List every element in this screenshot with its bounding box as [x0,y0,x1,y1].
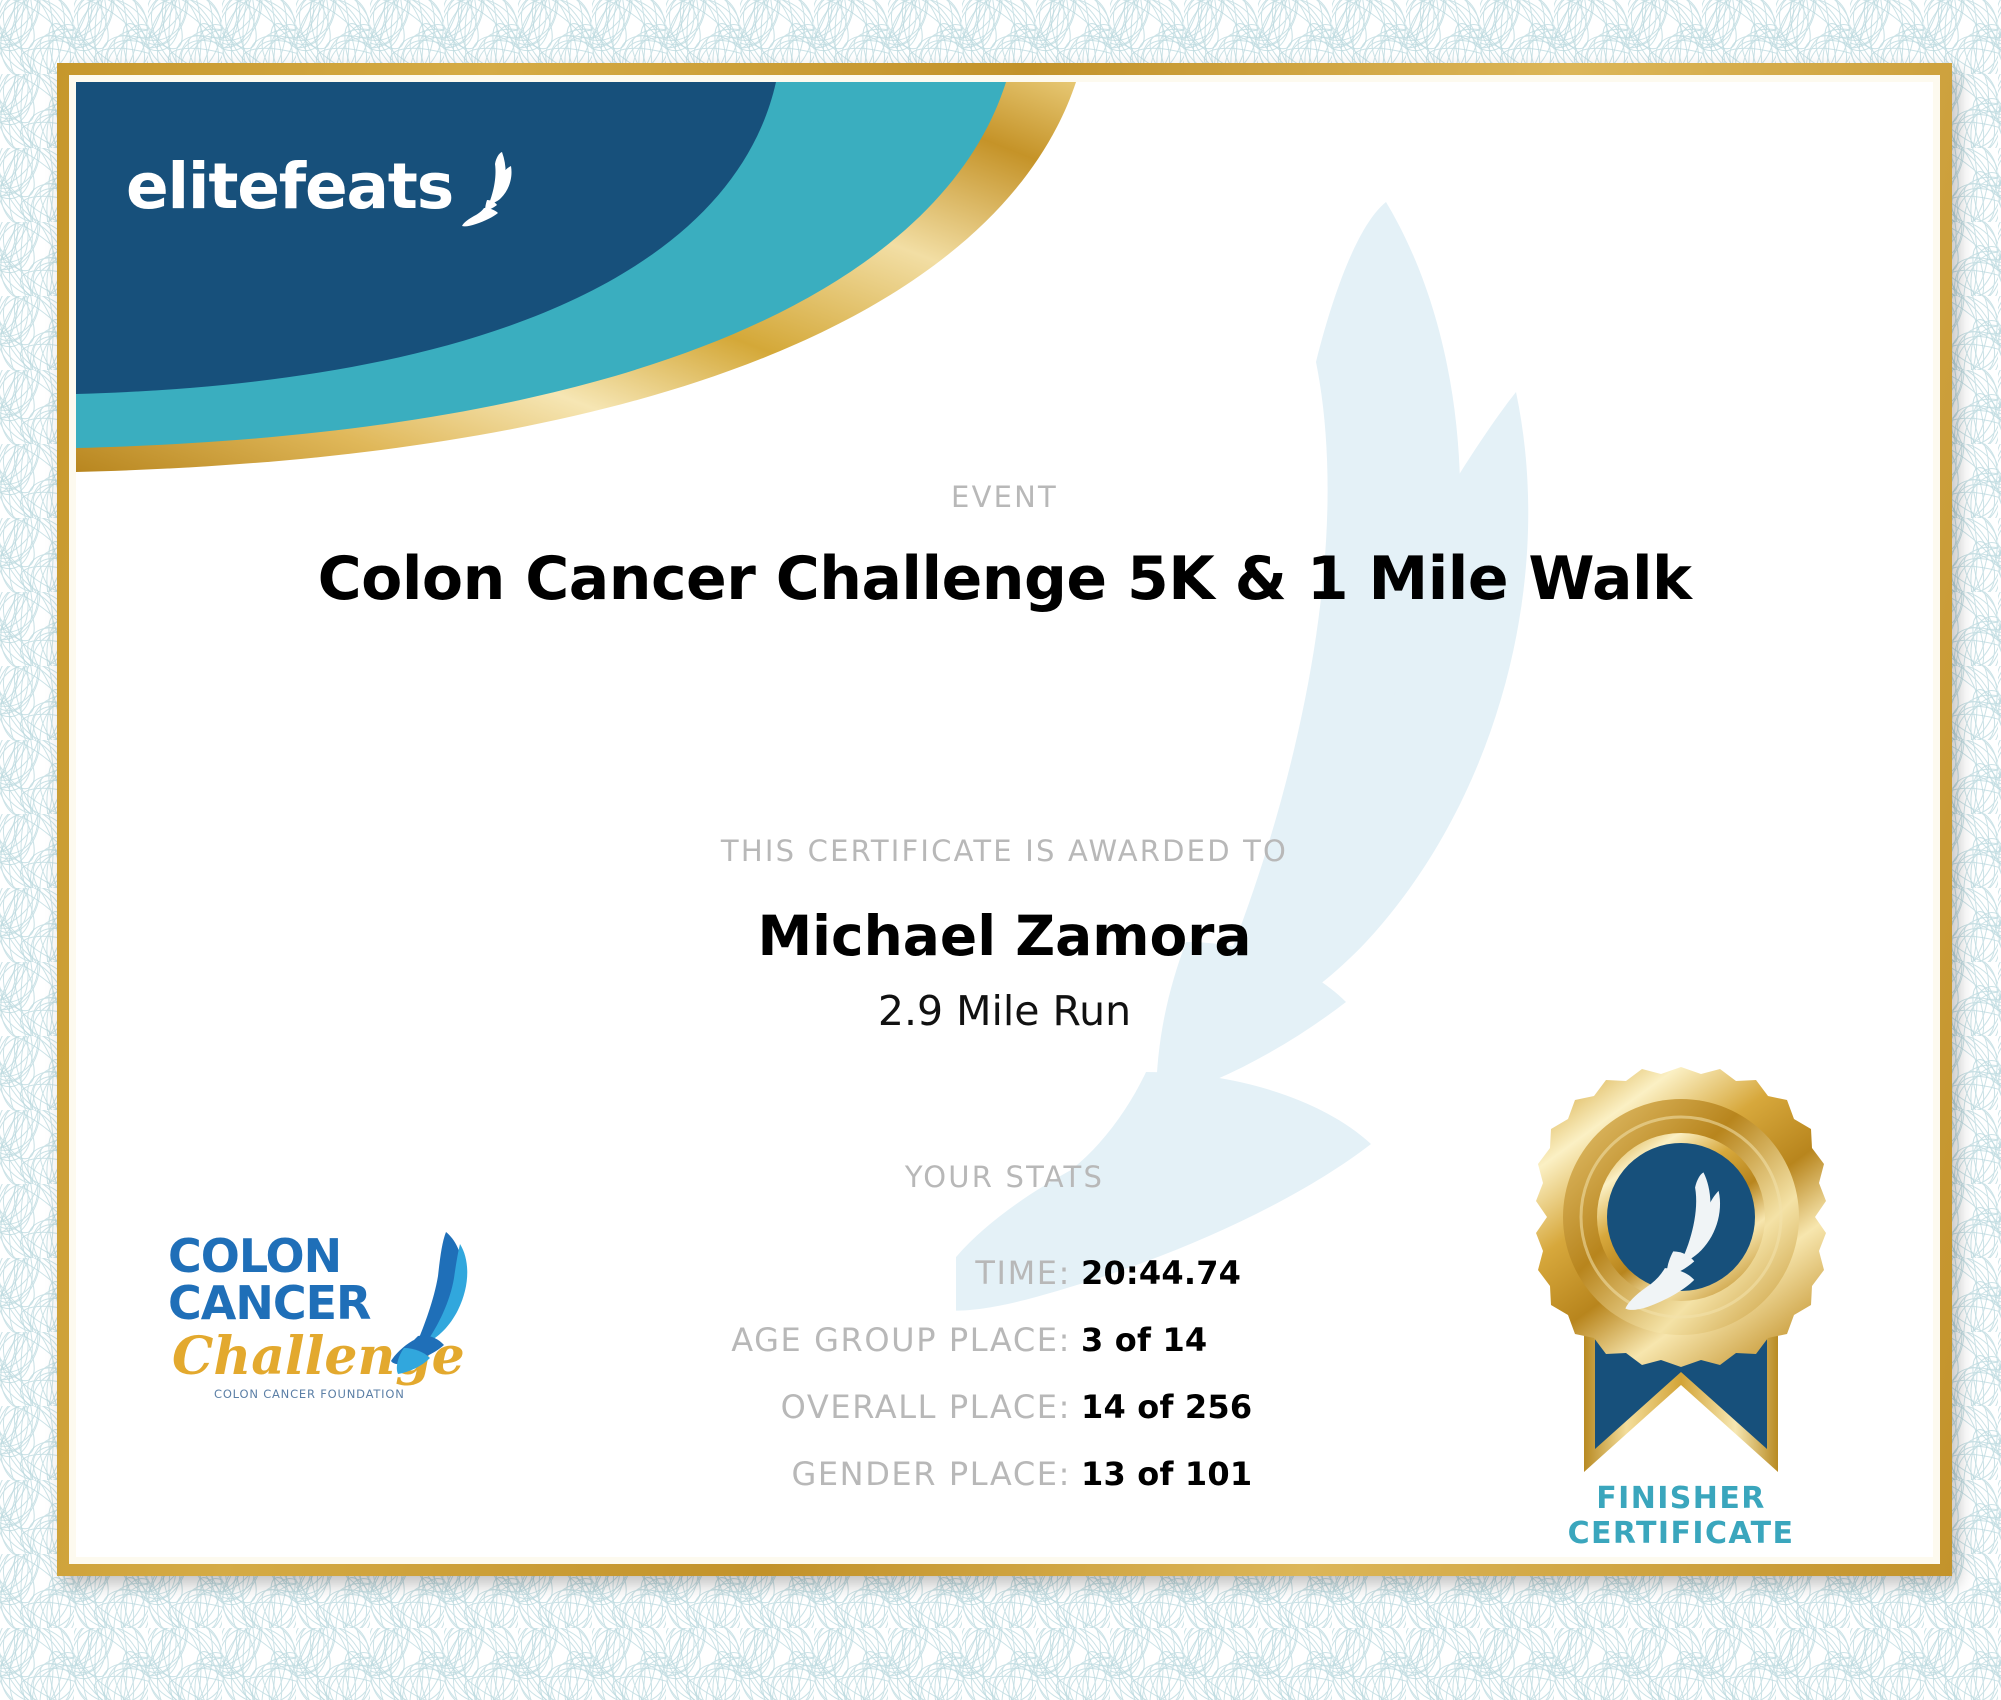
stat-value-overall-place: 14 of 256 [1081,1388,1256,1426]
recipient-name: Michael Zamora [76,904,1933,968]
stat-row-age-group-place: AGE GROUP PLACE: 3 of 14 [496,1321,1256,1388]
certificate-content: EVENT Colon Cancer Challenge 5K & 1 Mile… [76,82,1933,1557]
recipient-distance: 2.9 Mile Run [76,987,1933,1035]
awarded-to-label: THIS CERTIFICATE IS AWARDED TO [76,834,1933,868]
finisher-certificate-caption: FINISHER CERTIFICATE [1496,1482,1866,1552]
cc-logo-line2: CANCER [168,1276,371,1330]
stat-row-overall-place: OVERALL PLACE: 14 of 256 [496,1388,1256,1455]
stat-value-gender-place: 13 of 101 [1081,1455,1256,1493]
colon-cancer-challenge-logo: COLON CANCER Challenge COLON CANCER FOUN… [166,1222,486,1437]
certificate-body: elitefeats [76,82,1933,1557]
caption-line-certificate: CERTIFICATE [1496,1517,1866,1552]
event-title: Colon Cancer Challenge 5K & 1 Mile Walk [76,544,1933,614]
elitefeats-wordmark: elitefeats [126,155,453,218]
cc-logo-line1: COLON [168,1229,341,1283]
cc-logo-tagline: COLON CANCER FOUNDATION [214,1387,405,1401]
stat-key-overall-place: OVERALL PLACE: [781,1388,1071,1426]
stat-row-gender-place: GENDER PLACE: 13 of 101 [496,1455,1256,1522]
elitefeats-logo: elitefeats [126,144,519,228]
stat-key-gender-place: GENDER PLACE: [791,1455,1071,1493]
stat-row-time: TIME: 20:44.74 [496,1254,1256,1321]
stat-value-time: 20:44.74 [1081,1254,1256,1292]
certificate-frame: elitefeats [57,63,1952,1576]
stat-key-age-group-place: AGE GROUP PLACE: [731,1321,1071,1359]
certificate-page: elitefeats [0,0,2001,1700]
event-label: EVENT [76,480,1933,514]
stats-list: TIME: 20:44.74 AGE GROUP PLACE: 3 of 14 … [496,1254,1256,1522]
stat-key-time: TIME: [975,1254,1071,1292]
winged-foot-icon [457,150,519,228]
stat-value-age-group-place: 3 of 14 [1081,1321,1256,1359]
caption-line-finisher: FINISHER [1496,1482,1866,1517]
badge-medal [1536,1067,1826,1367]
